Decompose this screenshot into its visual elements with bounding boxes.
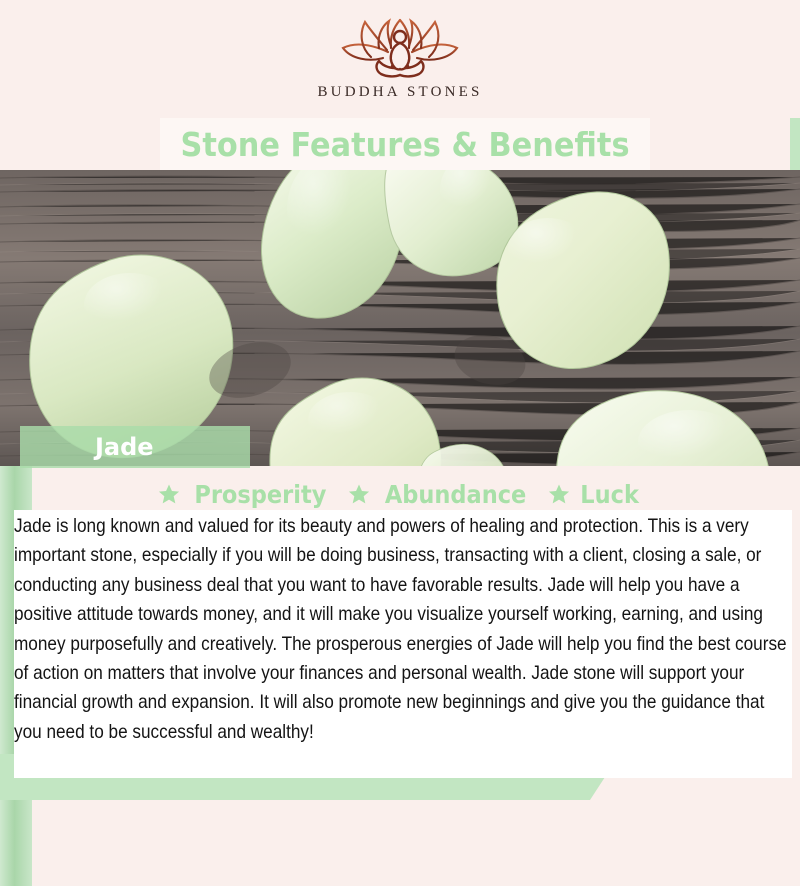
benefit-item: Luck [548,480,642,509]
stone-name: Jade [95,433,154,461]
description-text: Jade is long known and valued for its be… [14,510,792,747]
star-icon [158,483,180,505]
stone-name-banner: Jade [20,426,250,468]
page-title: Stone Features & Benefits [180,125,629,164]
description-panel: Jade is long known and valued for its be… [14,510,792,778]
star-icon [348,483,370,505]
title-banner: Stone Features & Benefits [160,118,650,170]
brand-name: BUDDHA STONES [317,84,482,101]
benefit-label: Luck [580,480,639,509]
brand-header: BUDDHA STONES [0,0,800,118]
benefit-label: Prosperity [194,480,326,509]
benefits-row: Prosperity Abundance Luck [0,478,800,510]
star-icon [548,483,570,505]
benefit-item: Abundance [348,480,534,509]
benefit-item: Prosperity [158,480,334,509]
benefit-label: Abundance [385,480,526,509]
lotus-meditation-icon [325,18,475,80]
stone-photo [0,170,800,466]
